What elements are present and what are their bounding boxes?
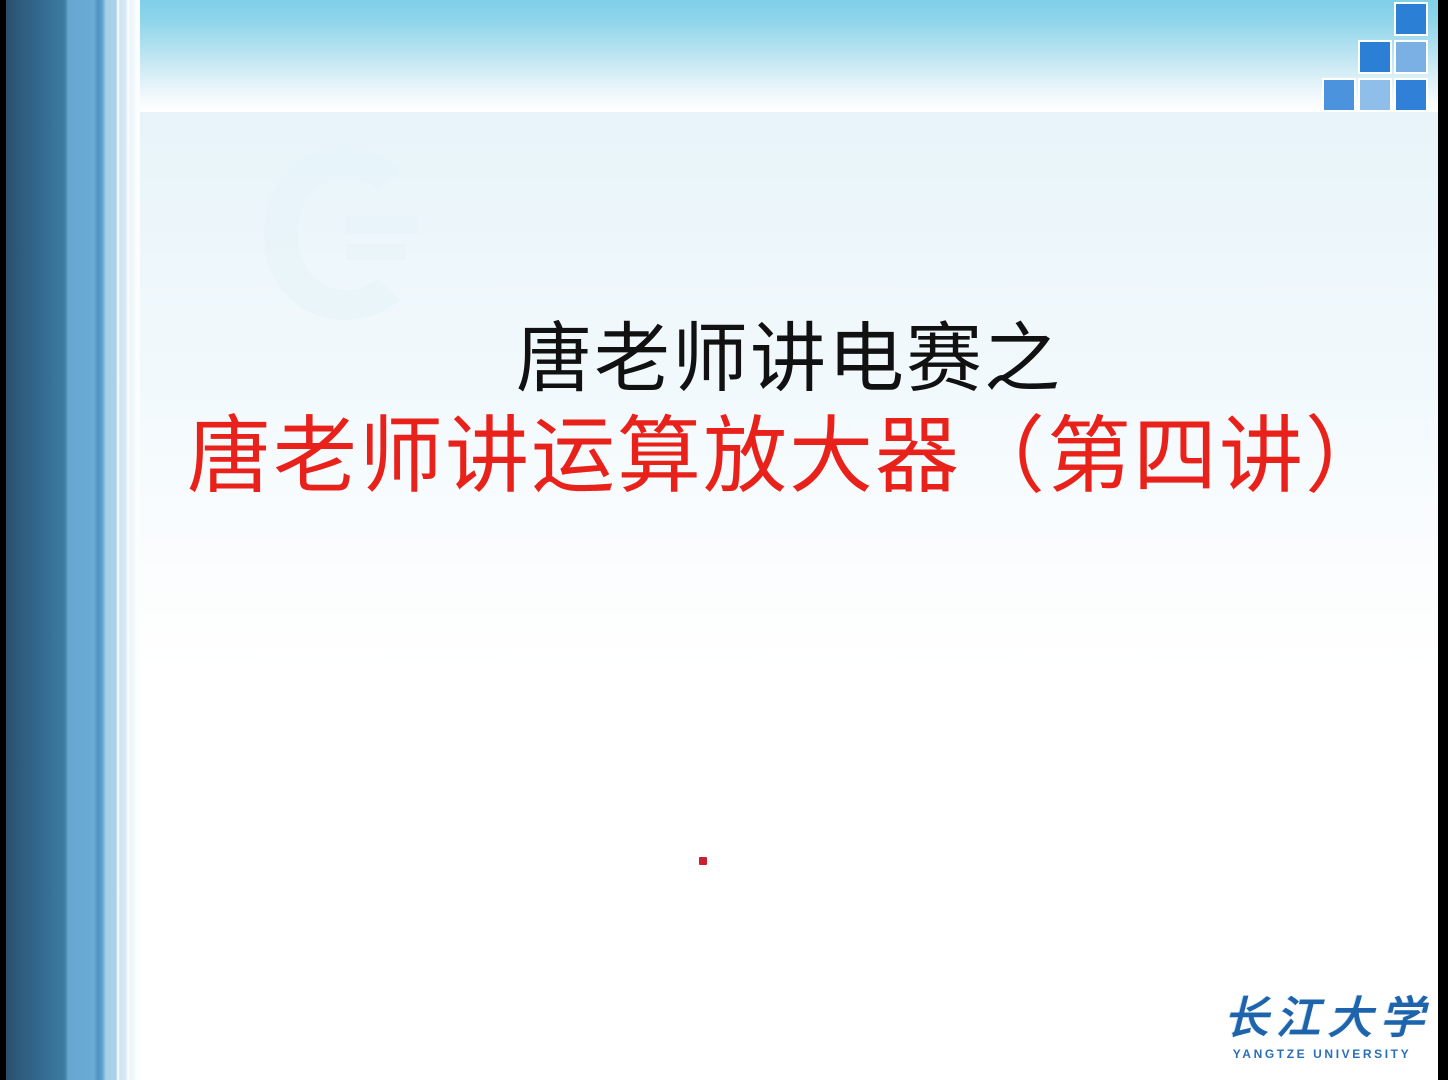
square-mid-right: [1394, 40, 1428, 74]
title-line-primary: 唐老师讲电赛之: [140, 322, 1438, 398]
slide-content-area: 唐老师讲电赛之 唐老师讲运算放大器（第四讲） 长江大学 YANGTZE UNIV…: [140, 0, 1438, 1080]
slide-title-block: 唐老师讲电赛之 唐老师讲运算放大器（第四讲）: [140, 322, 1438, 500]
university-logo-english: YANGTZE UNIVERSITY: [1224, 1047, 1420, 1061]
university-logo: 长江大学 YANGTZE UNIVERSITY: [1224, 992, 1420, 1074]
header-gradient-banner: [140, 0, 1438, 112]
square-low-center: [1358, 78, 1392, 112]
red-dot-mark: [699, 857, 707, 865]
left-stripe-band: [6, 0, 140, 1080]
title-line-secondary: 唐老师讲运算放大器（第四讲）: [140, 416, 1438, 500]
square-top-right: [1394, 2, 1428, 36]
presentation-slide: 唐老师讲电赛之 唐老师讲运算放大器（第四讲） 长江大学 YANGTZE UNIV…: [0, 0, 1448, 1080]
square-mid-center: [1358, 40, 1392, 74]
square-low-left: [1322, 78, 1356, 112]
university-logo-chinese: 长江大学: [1224, 992, 1420, 1046]
corner-square-motif: [1288, 0, 1428, 120]
square-low-right: [1394, 78, 1428, 112]
